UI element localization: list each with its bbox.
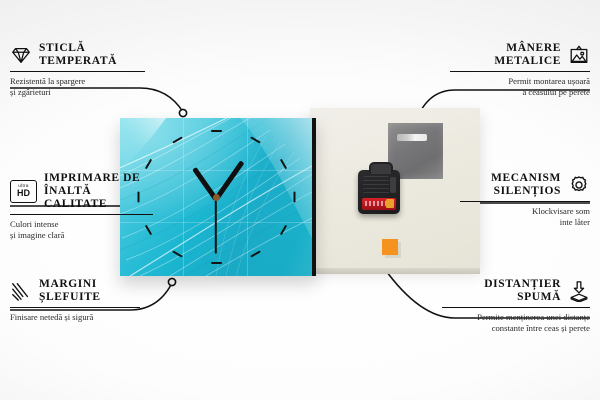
callout-rule xyxy=(450,71,590,72)
callout-metal-handles: MÂNERE METALICE Permit montarea ușoară a… xyxy=(450,42,590,97)
callout-subtitle: Permite menținerea unei distanțe constan… xyxy=(442,312,590,333)
battery-label xyxy=(365,201,387,206)
infographic-canvas: STICLĂ TEMPERATĂ Rezistentă la spargere … xyxy=(0,0,600,400)
callout-rule xyxy=(10,307,140,308)
clock-tick xyxy=(293,192,295,203)
callout-subtitle: Culori intense și imagine clară xyxy=(10,219,153,240)
callout-rule xyxy=(10,71,145,72)
polished-edges-icon xyxy=(10,280,32,302)
callout-subtitle: Rezistentă la spargere și zgârieturi xyxy=(10,76,145,97)
callout-rule xyxy=(442,307,590,308)
callout-high-quality-print: ultra HD IMPRIMARE DE ÎNALTĂ CALITATE Cu… xyxy=(10,172,153,240)
battery-plus-terminal xyxy=(386,199,394,208)
ultra-hd-icon: ultra HD xyxy=(10,180,37,203)
callout-rule xyxy=(460,201,590,202)
gear-icon xyxy=(568,174,590,196)
callout-title: MECANISM SILENȚIOS xyxy=(491,172,561,198)
callout-tempered-glass: STICLĂ TEMPERATĂ Rezistentă la spargere … xyxy=(10,42,145,97)
clock-tick xyxy=(211,130,222,132)
mechanism-grill xyxy=(363,176,389,196)
glass-seam-vertical-2 xyxy=(247,118,248,276)
glass-seam-vertical-1 xyxy=(183,118,184,276)
callout-rule xyxy=(10,214,153,215)
callout-silent-mechanism: MECANISM SILENȚIOS Klockvisare som inte … xyxy=(460,172,590,227)
battery-part xyxy=(362,198,396,210)
clock-mechanism-part xyxy=(358,170,400,214)
picture-frame-icon xyxy=(568,44,590,66)
mechanism-hook xyxy=(369,162,393,174)
hanger-keyhole-slot xyxy=(397,134,427,141)
foam-spacer-part xyxy=(382,239,398,255)
callout-subtitle: Permit montarea ușoară a ceasului pe per… xyxy=(450,76,590,97)
clock-center-cap xyxy=(213,194,220,201)
diamond-icon xyxy=(10,44,32,66)
clock-hand-second xyxy=(215,198,217,254)
mechanism-knob xyxy=(390,177,396,193)
callout-title: DISTANȚIER SPUMĂ xyxy=(484,278,561,304)
callout-subtitle: Finisare netedă și sigură xyxy=(10,312,140,323)
callout-foam-spacer: DISTANȚIER SPUMĂ Permite menținerea unei… xyxy=(442,278,590,333)
callout-title: IMPRIMARE DE ÎNALTĂ CALITATE xyxy=(44,172,153,211)
callout-subtitle: Klockvisare som inte låter xyxy=(460,206,590,227)
glass-seam-horizontal-1 xyxy=(120,170,312,171)
callout-title: MARGINI ȘLEFUITE xyxy=(39,278,101,304)
clock-tick xyxy=(211,262,222,264)
clock-back-panel xyxy=(310,108,480,268)
product-image xyxy=(120,100,480,285)
callout-polished-edges: MARGINI ȘLEFUITE Finisare netedă și sigu… xyxy=(10,278,140,323)
callout-title: STICLĂ TEMPERATĂ xyxy=(39,42,117,68)
press-down-icon xyxy=(568,280,590,302)
callout-title: MÂNERE METALICE xyxy=(494,42,561,68)
